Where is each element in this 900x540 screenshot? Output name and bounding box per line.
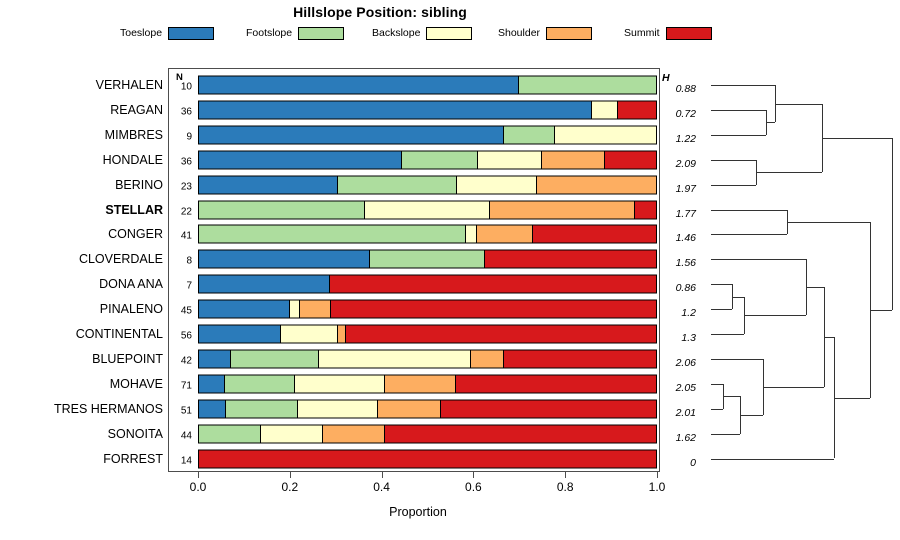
h-value: 1.46 <box>662 232 696 244</box>
bar-segment-toeslope[interactable] <box>199 326 281 343</box>
bar-segment-toeslope[interactable] <box>199 77 519 94</box>
bar-segment-summit[interactable] <box>456 375 656 392</box>
bar-segment-shoulder[interactable] <box>378 400 441 417</box>
dendrogram-branch <box>763 387 824 388</box>
dendrogram-branch <box>711 110 766 111</box>
y-axis-label: HONDALE <box>103 153 163 167</box>
dendrogram-branch <box>766 122 775 123</box>
dendrogram-branch <box>711 85 775 86</box>
y-axis-label: PINALENO <box>100 302 163 316</box>
stacked-bar[interactable] <box>198 175 657 194</box>
dendrogram-branch <box>732 297 744 298</box>
dendrogram-branch <box>711 185 756 186</box>
bar-segment-summit[interactable] <box>618 101 656 118</box>
dendrogram-branch <box>711 409 723 410</box>
n-value: 45 <box>172 306 192 317</box>
h-value: 2.09 <box>662 158 696 170</box>
dendrogram-branch <box>711 459 834 460</box>
legend-item-summit[interactable]: Summit <box>624 24 712 42</box>
h-value: 1.62 <box>662 432 696 444</box>
y-axis-label: BERINO <box>115 178 163 192</box>
stacked-bar[interactable] <box>198 349 657 368</box>
y-axis-label: MOHAVE <box>110 377 163 391</box>
h-value: 0.88 <box>662 83 696 95</box>
stacked-bar[interactable] <box>198 225 657 244</box>
h-value: 0.86 <box>662 282 696 294</box>
bar-segment-backslope[interactable] <box>295 375 385 392</box>
y-axis-label: VERHALEN <box>96 78 163 92</box>
stacked-bar[interactable] <box>198 424 657 443</box>
n-value: 36 <box>172 106 192 117</box>
bar-segment-shoulder[interactable] <box>471 350 504 367</box>
bar-segment-backslope[interactable] <box>298 400 378 417</box>
legend-item-footslope[interactable]: Footslope <box>246 24 344 42</box>
n-value: 71 <box>172 380 192 391</box>
n-value: 7 <box>172 281 192 292</box>
x-tick <box>657 472 658 478</box>
bar-segment-shoulder[interactable] <box>385 375 456 392</box>
bar-segment-toeslope[interactable] <box>199 350 231 367</box>
x-tick <box>473 472 474 478</box>
stacked-bar[interactable] <box>198 300 657 319</box>
h-value: 1.3 <box>662 332 696 344</box>
y-axis-label: REAGAN <box>110 103 163 117</box>
y-axis-label: FORREST <box>103 452 163 466</box>
x-tick-label: 1.0 <box>627 480 687 494</box>
h-value: 2.05 <box>662 382 696 394</box>
bar-segment-toeslope[interactable] <box>199 400 226 417</box>
x-tick <box>565 472 566 478</box>
dendrogram-branch <box>756 172 822 173</box>
bar-segment-footslope[interactable] <box>226 400 298 417</box>
chart-root: Hillslope Position: sibling ToeslopeFoot… <box>0 0 900 540</box>
dendrogram-branch <box>744 315 806 316</box>
bar-segment-toeslope[interactable] <box>199 101 592 118</box>
bar-segment-summit[interactable] <box>199 450 656 467</box>
bar-segment-toeslope[interactable] <box>199 151 402 168</box>
bar-segment-backslope[interactable] <box>592 101 618 118</box>
legend-label: Shoulder <box>498 27 540 39</box>
bar-segment-backslope[interactable] <box>281 326 338 343</box>
h-header: H <box>662 72 670 84</box>
stacked-bar[interactable] <box>198 200 657 219</box>
y-axis-label: CLOVERDALE <box>79 252 163 266</box>
x-tick-label: 0.8 <box>535 480 595 494</box>
bar-segment-summit[interactable] <box>485 251 656 268</box>
x-tick-label: 0.6 <box>443 480 503 494</box>
bar-segment-summit[interactable] <box>331 301 656 318</box>
bar-segment-footslope[interactable] <box>199 226 466 243</box>
stacked-bar[interactable] <box>198 100 657 119</box>
h-value: 1.22 <box>662 133 696 145</box>
legend-swatch <box>168 27 214 40</box>
y-axis-label: MIMBRES <box>105 128 163 142</box>
bar-segment-summit[interactable] <box>533 226 656 243</box>
bar-segment-summit[interactable] <box>330 276 656 293</box>
dendrogram-branch <box>711 434 740 435</box>
h-value: 1.56 <box>662 257 696 269</box>
dendrogram-branch <box>834 398 870 399</box>
bar-segment-footslope[interactable] <box>225 375 296 392</box>
bar-segment-shoulder[interactable] <box>542 151 606 168</box>
dendrogram-branch <box>711 160 756 161</box>
bar-segment-footslope[interactable] <box>402 151 478 168</box>
stacked-bar[interactable] <box>198 399 657 418</box>
stacked-bar[interactable] <box>198 325 657 344</box>
bar-segment-toeslope[interactable] <box>199 375 225 392</box>
stacked-bar[interactable] <box>198 374 657 393</box>
stacked-bar[interactable] <box>198 125 657 144</box>
dendrogram <box>700 60 896 472</box>
y-axis-label: STELLAR <box>105 203 163 217</box>
dendrogram-branch <box>711 135 766 136</box>
bar-segment-footslope[interactable] <box>519 77 656 94</box>
y-axis-label: TRES HERMANOS <box>54 402 163 416</box>
dendrogram-branch <box>711 359 763 360</box>
h-value: 1.97 <box>662 183 696 195</box>
n-value: 56 <box>172 331 192 342</box>
bar-segment-footslope[interactable] <box>338 176 457 193</box>
bar-segment-backslope[interactable] <box>319 350 471 367</box>
n-value: 23 <box>172 181 192 192</box>
bar-segment-backslope[interactable] <box>457 176 537 193</box>
stacked-bar[interactable] <box>198 275 657 294</box>
dendrogram-branch <box>723 396 740 397</box>
dendrogram-branch <box>787 222 870 223</box>
bar-segment-summit[interactable] <box>635 201 656 218</box>
bar-segment-footslope[interactable] <box>231 350 318 367</box>
n-value: 44 <box>172 430 192 441</box>
bar-segment-summit[interactable] <box>605 151 656 168</box>
bar-segment-backslope[interactable] <box>261 425 323 442</box>
legend-label: Summit <box>624 27 660 39</box>
bar-segment-toeslope[interactable] <box>199 301 290 318</box>
bar-segment-shoulder[interactable] <box>490 201 635 218</box>
h-value: 2.06 <box>662 357 696 369</box>
dendrogram-branch <box>711 210 787 211</box>
bar-segment-footslope[interactable] <box>199 425 261 442</box>
x-tick <box>382 472 383 478</box>
n-value: 41 <box>172 231 192 242</box>
y-axis-label: CONGER <box>108 227 163 241</box>
bar-segment-shoulder[interactable] <box>537 176 656 193</box>
legend-swatch <box>426 27 472 40</box>
bar-segment-footslope[interactable] <box>504 126 555 143</box>
n-value: 36 <box>172 156 192 167</box>
legend-item-toeslope[interactable]: Toeslope <box>120 24 214 42</box>
bar-segment-backslope[interactable] <box>466 226 477 243</box>
dendrogram-branch <box>711 259 806 260</box>
bar-segment-shoulder[interactable] <box>477 226 533 243</box>
dendrogram-branch <box>775 104 822 105</box>
legend-swatch <box>298 27 344 40</box>
h-value: 0 <box>662 457 696 469</box>
legend: ToeslopeFootslopeBackslopeShoulderSummit <box>120 24 760 42</box>
dendrogram-branch <box>711 309 732 310</box>
y-axis-label: CONTINENTAL <box>76 327 163 341</box>
x-axis-title: Proportion <box>318 505 518 519</box>
bar-segment-shoulder[interactable] <box>300 301 331 318</box>
y-axis-label: BLUEPOINT <box>92 352 163 366</box>
bar-segment-footslope[interactable] <box>199 201 365 218</box>
h-value: 1.2 <box>662 307 696 319</box>
bar-segment-summit[interactable] <box>504 350 656 367</box>
y-axis-label: SONOITA <box>108 427 163 441</box>
bar-segment-toeslope[interactable] <box>199 251 370 268</box>
bar-segment-summit[interactable] <box>441 400 656 417</box>
bar-segment-backslope[interactable] <box>365 201 490 218</box>
legend-swatch <box>546 27 592 40</box>
stacked-bar[interactable] <box>198 449 657 468</box>
stacked-bar[interactable] <box>198 150 657 169</box>
n-value: 8 <box>172 256 192 267</box>
dendrogram-branch <box>711 234 787 235</box>
legend-item-backslope[interactable]: Backslope <box>372 24 472 42</box>
legend-item-shoulder[interactable]: Shoulder <box>498 24 592 42</box>
bar-segment-backslope[interactable] <box>555 126 656 143</box>
x-tick-label: 0.2 <box>260 480 320 494</box>
h-value: 0.72 <box>662 108 696 120</box>
x-tick <box>290 472 291 478</box>
dendrogram-branch <box>870 310 892 311</box>
h-value: 2.01 <box>662 407 696 419</box>
stacked-bar[interactable] <box>198 250 657 269</box>
bar-segment-toeslope[interactable] <box>199 176 338 193</box>
y-axis-label: DONA ANA <box>99 277 163 291</box>
dendrogram-branch <box>822 138 892 139</box>
chart-title: Hillslope Position: sibling <box>0 4 760 20</box>
dendrogram-branch <box>711 284 732 285</box>
bar-segment-shoulder[interactable] <box>323 425 385 442</box>
stacked-bar[interactable] <box>198 76 657 95</box>
x-tick-label: 0.0 <box>168 480 228 494</box>
n-header: N <box>176 72 183 83</box>
n-value: 51 <box>172 405 192 416</box>
dendrogram-branch <box>824 337 834 338</box>
x-tick-label: 0.4 <box>352 480 412 494</box>
dendrogram-branch <box>892 138 893 310</box>
legend-label: Footslope <box>246 27 292 39</box>
dendrogram-branch <box>740 415 763 416</box>
x-tick <box>198 472 199 478</box>
legend-swatch <box>666 27 712 40</box>
legend-label: Toeslope <box>120 27 162 39</box>
bar-segment-backslope[interactable] <box>290 301 300 318</box>
n-value: 10 <box>172 82 192 93</box>
n-value: 22 <box>172 206 192 217</box>
bar-segment-summit[interactable] <box>385 425 656 442</box>
bar-segment-shoulder[interactable] <box>338 326 346 343</box>
bar-segment-summit[interactable] <box>346 326 656 343</box>
dendrogram-branch <box>711 384 723 385</box>
n-value: 42 <box>172 355 192 366</box>
legend-label: Backslope <box>372 27 420 39</box>
dendrogram-branch <box>711 334 744 335</box>
dendrogram-branch <box>806 287 824 288</box>
bar-segment-toeslope[interactable] <box>199 276 330 293</box>
n-value: 14 <box>172 455 192 466</box>
bar-segment-toeslope[interactable] <box>199 126 504 143</box>
n-value: 9 <box>172 131 192 142</box>
bar-segment-footslope[interactable] <box>370 251 484 268</box>
bar-segment-backslope[interactable] <box>478 151 542 168</box>
h-value: 1.77 <box>662 208 696 220</box>
